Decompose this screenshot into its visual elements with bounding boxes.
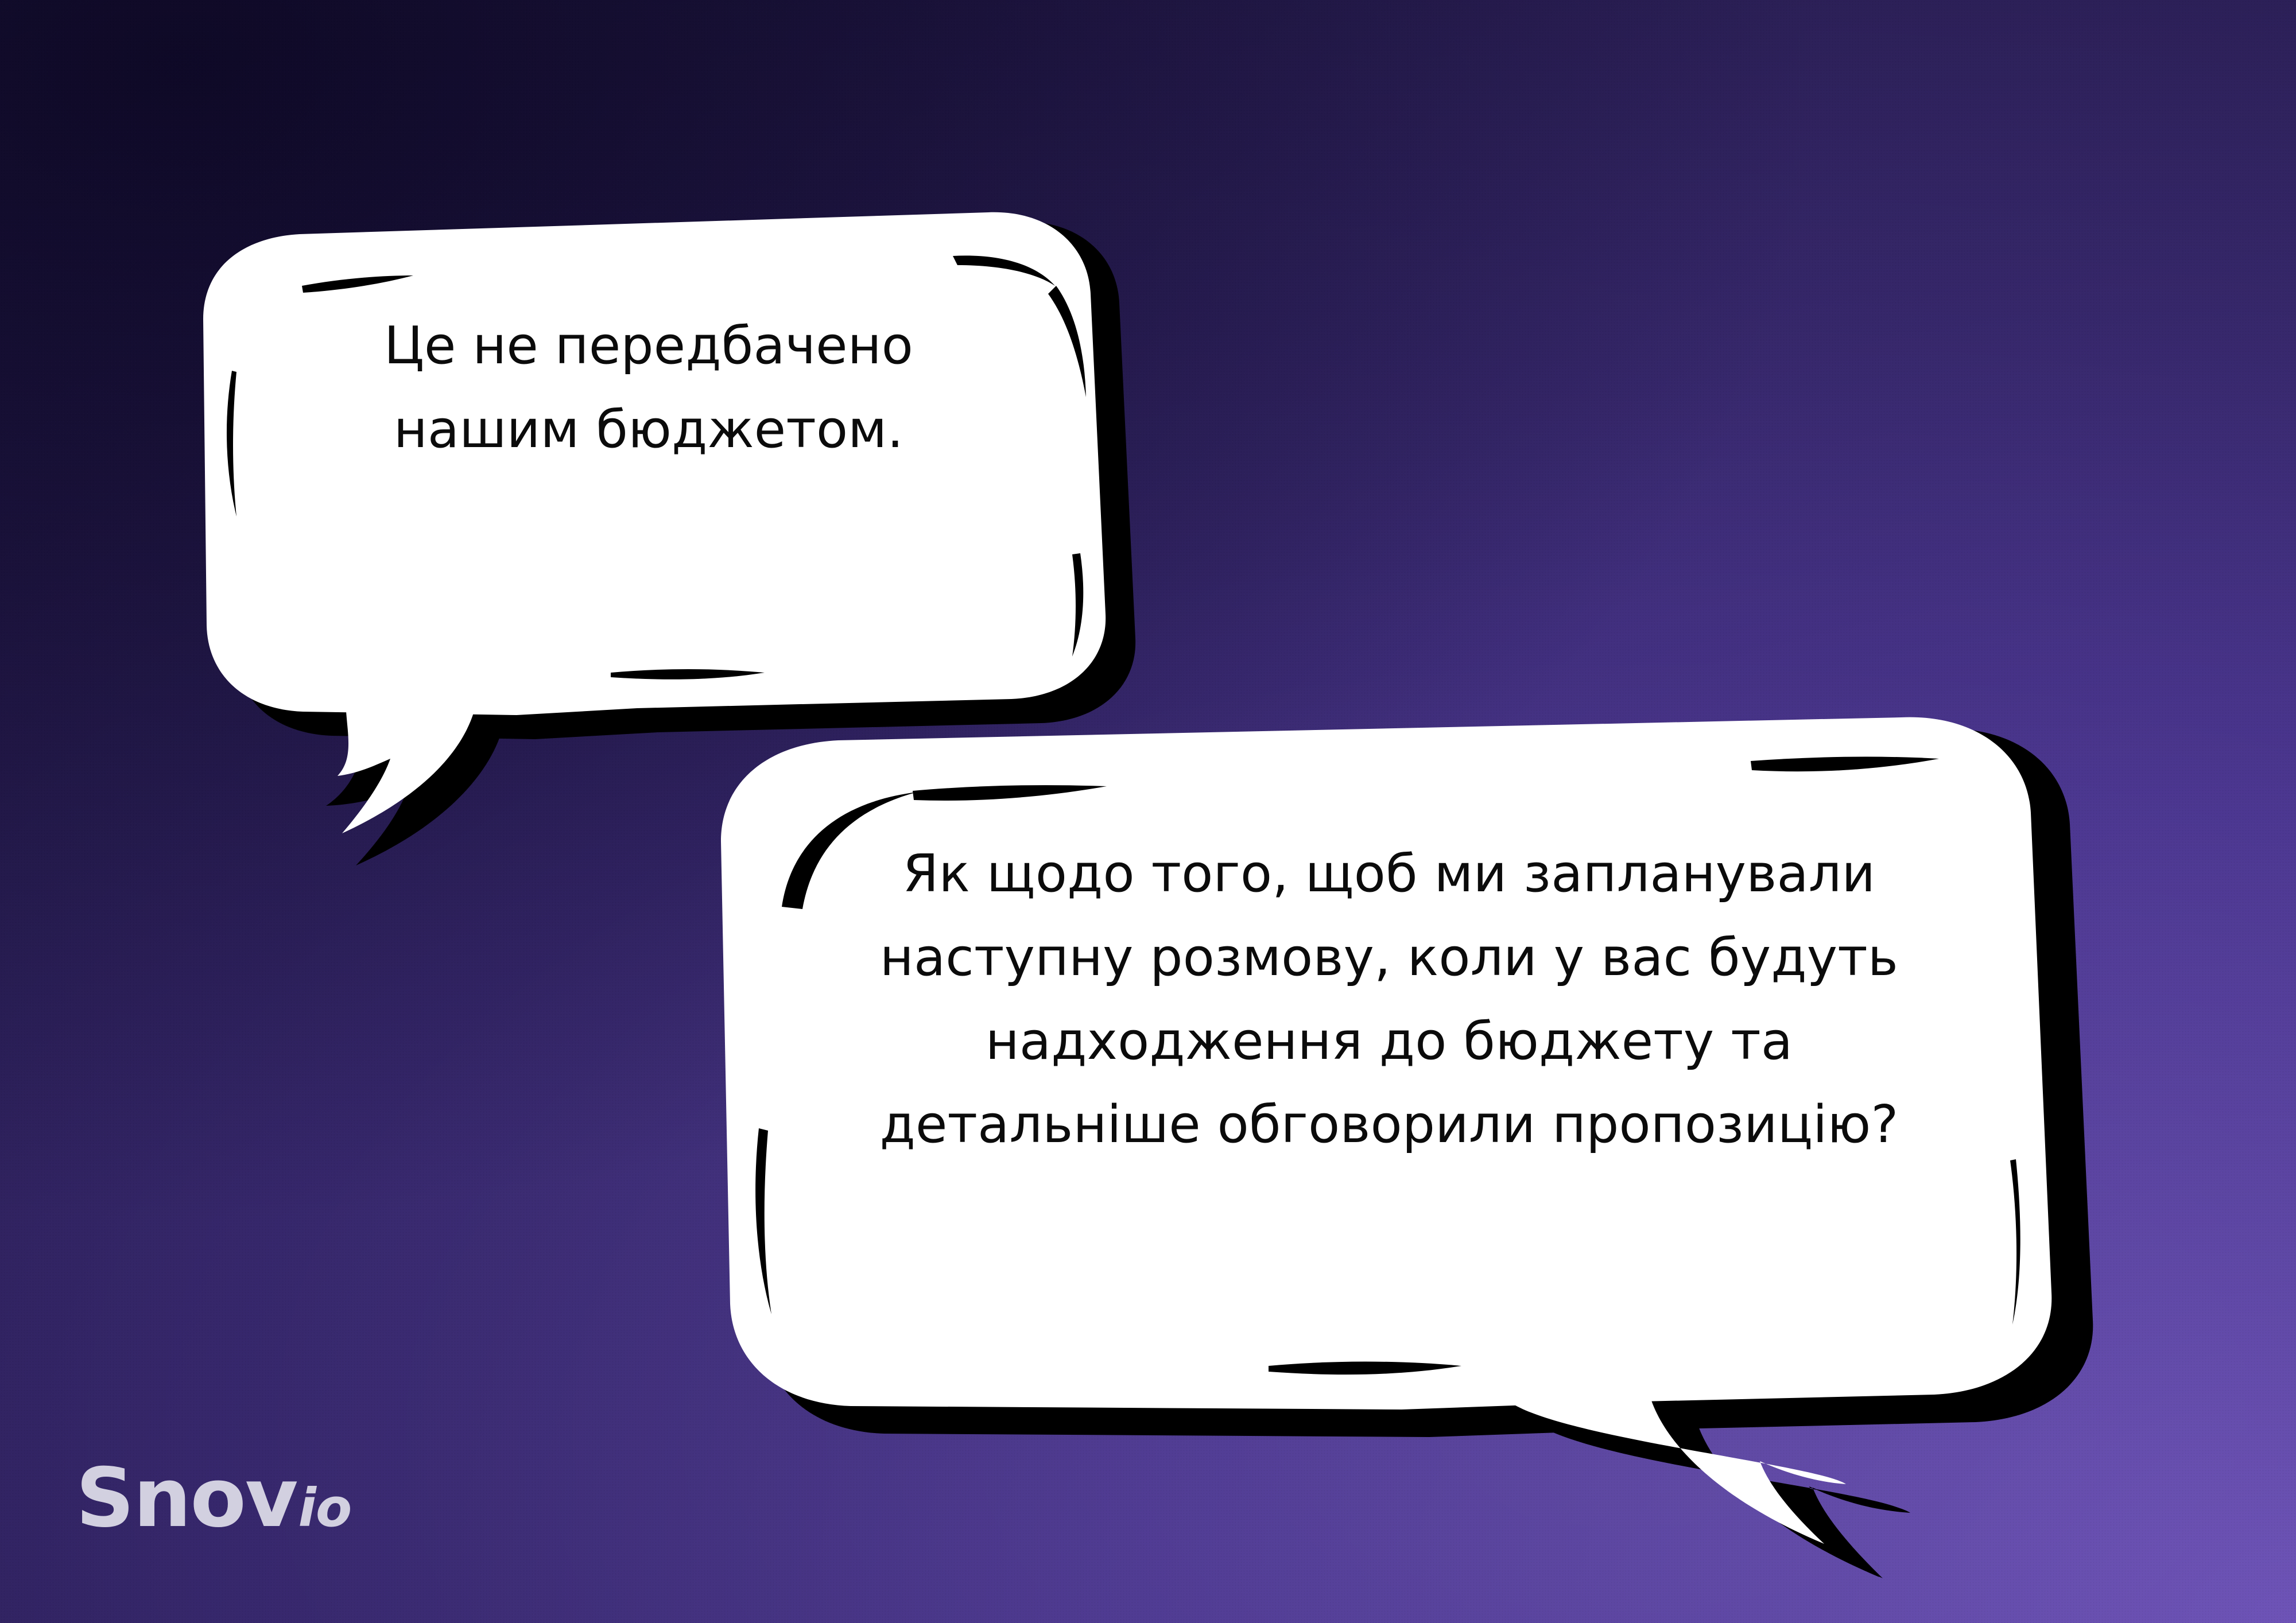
- snovio-logo[interactable]: Snov io: [76, 1458, 351, 1539]
- comic-speech-bubble-graphic: Це не передбачено нашим бюджетом.: [0, 0, 2296, 1623]
- speech-bubble-one: [184, 212, 1182, 740]
- logo-word-tld: io: [298, 1482, 351, 1535]
- speech-bubble-two-text: Як щодо того, щоб ми запланували наступн…: [763, 832, 2015, 1167]
- logo-word-main: Snov: [76, 1458, 297, 1539]
- speech-bubble-one-text: Це не передбачено нашим бюджетом.: [247, 304, 1050, 472]
